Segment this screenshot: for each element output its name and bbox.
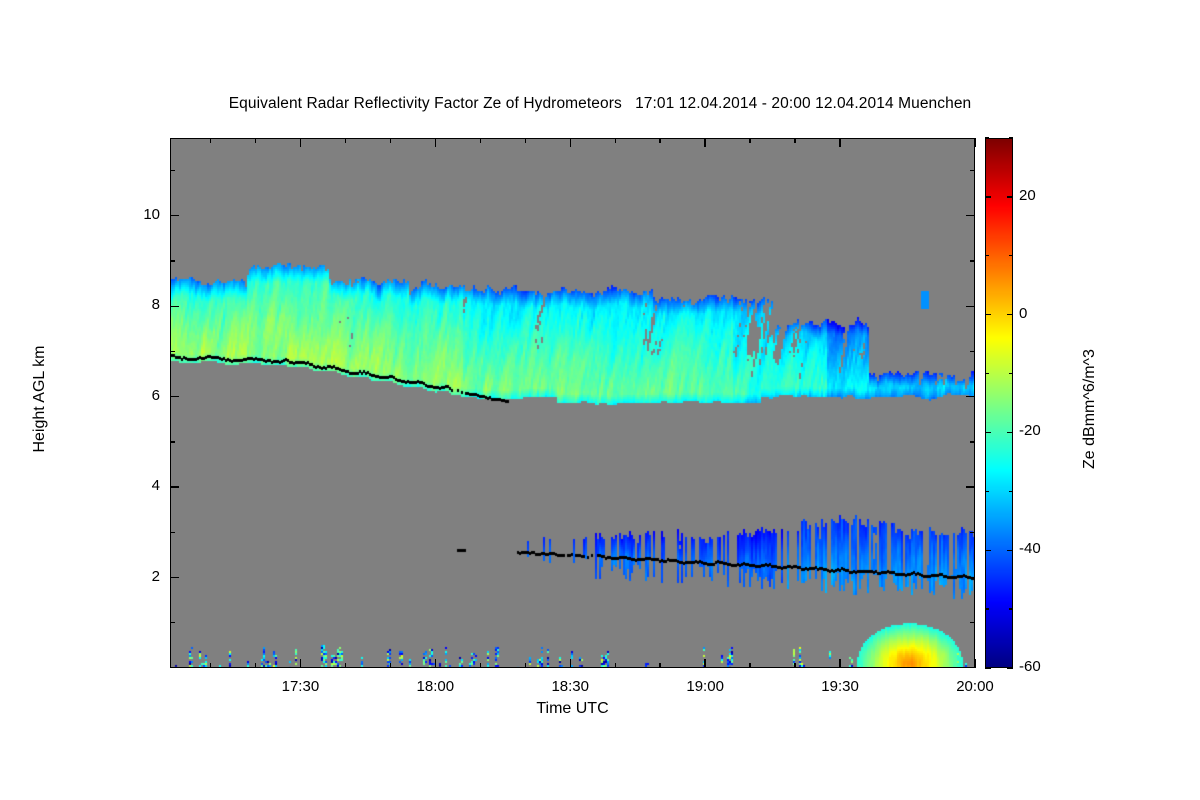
colorbar-minor-tick xyxy=(985,137,989,138)
y-major-tick xyxy=(170,396,179,397)
colorbar-tick-label: -20 xyxy=(1019,422,1079,439)
x-major-tick xyxy=(974,659,975,668)
x-minor-tick xyxy=(615,663,616,668)
colorbar-tick xyxy=(1007,196,1013,197)
x-minor-tick xyxy=(255,663,256,668)
x-minor-tick xyxy=(480,138,481,143)
x-major-tick xyxy=(704,138,705,147)
y-axis-title: Height AGL km xyxy=(31,319,49,479)
x-major-tick xyxy=(839,138,840,147)
y-major-tick xyxy=(966,215,975,216)
x-tick-label: 20:00 xyxy=(930,678,1020,695)
y-minor-tick xyxy=(970,260,975,261)
x-major-tick xyxy=(974,138,975,147)
colorbar-gradient xyxy=(986,139,1013,668)
colorbar-tick xyxy=(985,550,991,551)
y-minor-tick xyxy=(970,622,975,623)
y-major-tick xyxy=(966,486,975,487)
x-tick-label: 17:30 xyxy=(255,678,345,695)
x-minor-tick xyxy=(345,663,346,668)
colorbar-minor-tick xyxy=(985,608,989,609)
colorbar-tick xyxy=(1007,667,1013,668)
colorbar-minor-tick xyxy=(1009,373,1013,374)
y-major-tick xyxy=(170,577,179,578)
colorbar-tick xyxy=(985,432,991,433)
x-minor-tick xyxy=(210,138,211,143)
x-minor-tick xyxy=(525,663,526,668)
colorbar-minor-tick xyxy=(1009,137,1013,138)
colorbar-minor-tick xyxy=(985,491,989,492)
colorbar-tick-label: -60 xyxy=(1019,658,1079,675)
radar-heatmap-canvas xyxy=(171,139,975,668)
x-minor-tick xyxy=(659,663,660,668)
x-major-tick xyxy=(435,659,436,668)
colorbar-tick-label: 0 xyxy=(1019,305,1079,322)
x-major-tick xyxy=(300,138,301,147)
y-major-tick xyxy=(966,306,975,307)
x-axis-title: Time UTC xyxy=(170,700,975,718)
x-minor-tick xyxy=(794,663,795,668)
x-minor-tick xyxy=(390,663,391,668)
x-tick-label: 18:30 xyxy=(525,678,615,695)
x-major-tick xyxy=(300,659,301,668)
x-major-tick xyxy=(435,138,436,147)
x-minor-tick xyxy=(615,138,616,143)
x-major-tick xyxy=(704,659,705,668)
colorbar-tick xyxy=(1007,432,1013,433)
y-major-tick xyxy=(966,396,975,397)
x-minor-tick xyxy=(749,663,750,668)
y-minor-tick xyxy=(170,351,175,352)
colorbar-tick-label: -40 xyxy=(1019,540,1079,557)
y-tick-label: 4 xyxy=(120,477,160,494)
x-major-tick xyxy=(839,659,840,668)
y-minor-tick xyxy=(170,170,175,171)
x-minor-tick xyxy=(749,138,750,143)
colorbar-tick xyxy=(985,196,991,197)
x-minor-tick xyxy=(659,138,660,143)
colorbar-minor-tick xyxy=(1009,491,1013,492)
y-tick-label: 6 xyxy=(120,387,160,404)
y-tick-label: 8 xyxy=(120,296,160,313)
y-tick-label: 10 xyxy=(120,206,160,223)
x-minor-tick xyxy=(480,663,481,668)
x-major-tick xyxy=(570,138,571,147)
colorbar-minor-tick xyxy=(1009,255,1013,256)
colorbar[interactable] xyxy=(985,138,1013,668)
x-tick-label: 19:30 xyxy=(795,678,885,695)
colorbar-tick xyxy=(985,314,991,315)
x-minor-tick xyxy=(794,138,795,143)
y-major-tick xyxy=(170,215,179,216)
y-minor-tick xyxy=(970,351,975,352)
colorbar-minor-tick xyxy=(985,373,989,374)
colorbar-tick xyxy=(985,667,991,668)
y-minor-tick xyxy=(170,622,175,623)
x-minor-tick xyxy=(210,663,211,668)
x-tick-label: 19:00 xyxy=(660,678,750,695)
y-major-tick xyxy=(170,306,179,307)
x-minor-tick xyxy=(390,138,391,143)
y-major-tick xyxy=(170,486,179,487)
y-minor-tick xyxy=(170,441,175,442)
x-tick-label: 18:00 xyxy=(390,678,480,695)
y-minor-tick xyxy=(970,441,975,442)
y-minor-tick xyxy=(170,532,175,533)
y-minor-tick xyxy=(170,260,175,261)
x-minor-tick xyxy=(345,138,346,143)
y-major-tick xyxy=(966,577,975,578)
colorbar-tick xyxy=(1007,314,1013,315)
radar-figure: Equivalent Radar Reflectivity Factor Ze … xyxy=(0,0,1200,800)
x-major-tick xyxy=(570,659,571,668)
y-minor-tick xyxy=(970,532,975,533)
x-minor-tick xyxy=(525,138,526,143)
plot-area[interactable] xyxy=(170,138,975,668)
y-minor-tick xyxy=(970,170,975,171)
colorbar-tick xyxy=(1007,550,1013,551)
colorbar-minor-tick xyxy=(1009,608,1013,609)
y-tick-label: 2 xyxy=(120,568,160,585)
colorbar-minor-tick xyxy=(985,255,989,256)
figure-title: Equivalent Radar Reflectivity Factor Ze … xyxy=(0,95,1200,113)
colorbar-tick-label: 20 xyxy=(1019,187,1079,204)
x-minor-tick xyxy=(255,138,256,143)
colorbar-title: Ze dBmm^6/m^3 xyxy=(1081,294,1099,524)
